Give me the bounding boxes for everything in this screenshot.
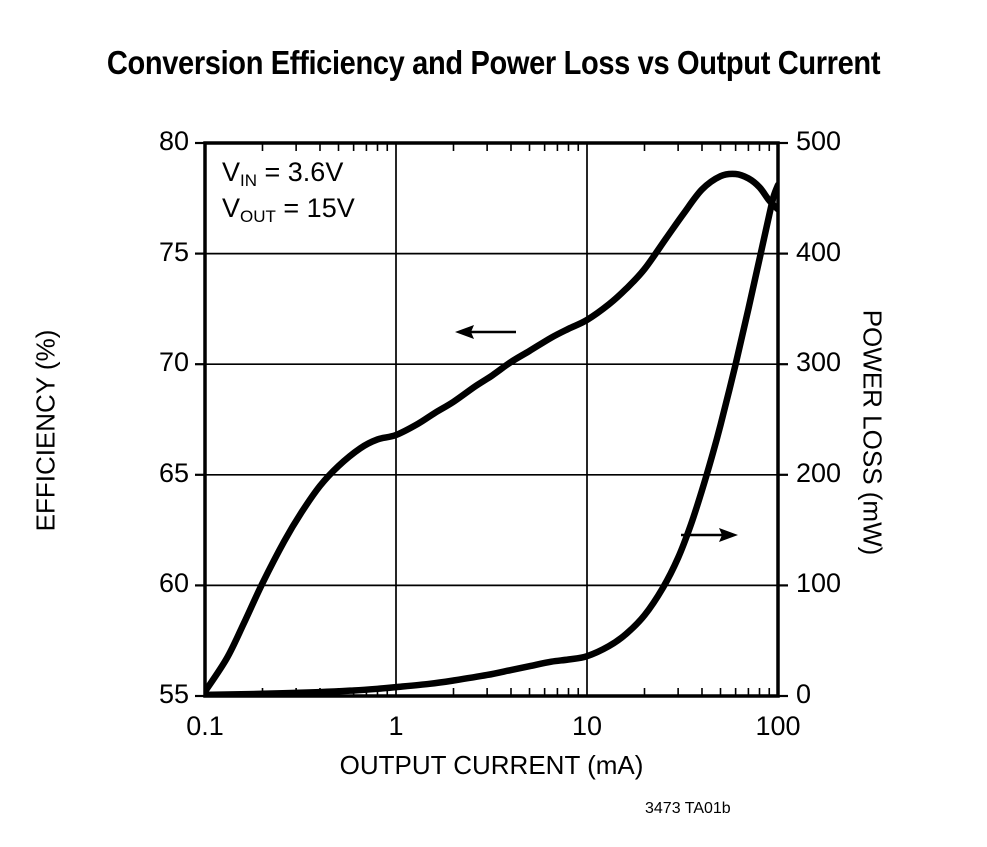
x-axis-label: OUTPUT CURRENT (mA): [205, 750, 778, 781]
x-tick-label: 100: [733, 711, 823, 742]
x-tick-label: 0.1: [160, 711, 250, 742]
arrow-left-icon: [455, 325, 516, 339]
data-series-layer: [205, 174, 778, 695]
x-tick-label: 10: [542, 711, 632, 742]
y-tick-label-right: 300: [796, 347, 866, 378]
y-axis-label-right: POWER LOSS (mW): [857, 283, 888, 583]
y-tick-label-left: 55: [119, 679, 189, 710]
y-axis-label-left: EFFICIENCY (%): [31, 281, 62, 581]
y-tick-label-left: 60: [119, 568, 189, 599]
y-tick-label-right: 100: [796, 568, 866, 599]
y-tick-label-left: 80: [119, 126, 189, 157]
x-tick-label: 1: [351, 711, 441, 742]
y-tick-label-left: 70: [119, 347, 189, 378]
figure-root: Conversion Efficiency and Power Loss vs …: [0, 0, 987, 847]
series-power-loss-curve: [205, 185, 778, 695]
figure-id-caption: 3473 TA01b: [645, 800, 731, 818]
y-tick-label-left: 65: [119, 458, 189, 489]
series-efficiency-curve: [205, 174, 778, 692]
y-tick-label-right: 0: [796, 679, 866, 710]
y-tick-label-right: 500: [796, 126, 866, 157]
conditions-annotation: VIN = 3.6V VOUT = 15V: [222, 155, 355, 226]
y-tick-label-right: 200: [796, 458, 866, 489]
y-tick-label-right: 400: [796, 237, 866, 268]
annotation-vin: VIN = 3.6V: [222, 155, 355, 191]
y-tick-label-left: 75: [119, 237, 189, 268]
annotation-vout: VOUT = 15V: [222, 191, 355, 227]
